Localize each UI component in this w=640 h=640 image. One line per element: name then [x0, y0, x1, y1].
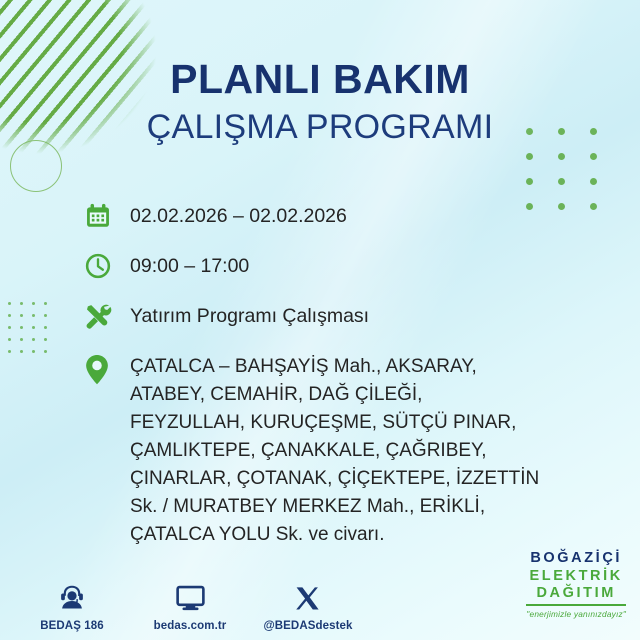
- location-line: ÇATALCA – BAHŞAYİŞ Mah., AKSARAY,: [130, 356, 477, 377]
- poster-footer: BEDAŞ 186 bedas.com.tr: [0, 562, 640, 640]
- monitor-icon: [175, 579, 206, 613]
- x-twitter-icon: [294, 579, 322, 613]
- maintenance-location-text: ÇATALCA – BAHŞAYİŞ Mah., AKSARAY, ATABEY…: [130, 350, 539, 548]
- contact-phone[interactable]: BEDAŞ 186: [26, 579, 118, 632]
- maintenance-time-range: 09:00 – 17:00: [130, 250, 249, 281]
- location-line: ÇAMLIKTEPE, ÇANAKKALE, ÇAĞRIBEY,: [130, 440, 487, 461]
- contact-channels: BEDAŞ 186 bedas.com.tr: [26, 579, 354, 632]
- page-subtitle: ÇALIŞMA PROGRAMI: [0, 107, 640, 148]
- planned-maintenance-poster: PLANLI BAKIM ÇALIŞMA PROGRAMI: [0, 0, 640, 640]
- map-pin-icon: [84, 350, 130, 388]
- call-center-agent-icon: [57, 579, 87, 613]
- dot-grid-left-decoration: [8, 302, 56, 362]
- contact-website-label: bedas.com.tr: [154, 620, 227, 632]
- maintenance-work-type: Yatırım Programı Çalışması: [130, 300, 369, 331]
- detail-row-work-type: Yatırım Programı Çalışması: [84, 300, 600, 336]
- location-line: ÇATALCA YOLU Sk. ve civarı.: [130, 524, 384, 545]
- clock-icon: [84, 250, 130, 286]
- contact-x-label: @BEDASdestek: [263, 620, 352, 632]
- brand-tagline: "enerjimizle yanınızdayız": [526, 610, 626, 618]
- brand-line-dagitim: DAĞITIM: [526, 586, 626, 606]
- location-line: Sk. / MURATBEY MERKEZ Mah., ERİKLİ,: [130, 496, 485, 517]
- tools-icon: [84, 300, 130, 336]
- maintenance-date-range: 02.02.2026 – 02.02.2026: [130, 200, 347, 231]
- poster-header: PLANLI BAKIM ÇALIŞMA PROGRAMI: [0, 58, 640, 148]
- page-title: PLANLI BAKIM: [0, 58, 640, 101]
- location-line: ÇINARLAR, ÇOTANAK, ÇİÇEKTEPE, İZZETTİN: [130, 468, 539, 489]
- location-line: FEYZULLAH, KURUÇEŞME, SÜTÇÜ PINAR,: [130, 412, 516, 433]
- contact-website[interactable]: bedas.com.tr: [144, 579, 236, 632]
- calendar-icon: [84, 200, 130, 236]
- bedas-logo: BOĞAZİÇİ ELEKTRİK DAĞITIM "enerjimizle y…: [526, 551, 626, 618]
- contact-x-twitter[interactable]: @BEDASdestek: [262, 579, 354, 632]
- brand-line-bogazici: BOĞAZİÇİ: [526, 551, 626, 566]
- contact-phone-label: BEDAŞ 186: [40, 620, 104, 632]
- detail-row-date: 02.02.2026 – 02.02.2026: [84, 200, 600, 236]
- location-line: ATABEY, CEMAHİR, DAĞ ÇİLEĞİ,: [130, 384, 422, 405]
- maintenance-details-list: 02.02.2026 – 02.02.2026 09:00 – 17:00: [84, 200, 600, 562]
- detail-row-location: ÇATALCA – BAHŞAYİŞ Mah., AKSARAY, ATABEY…: [84, 350, 600, 548]
- detail-row-time: 09:00 – 17:00: [84, 250, 600, 286]
- brand-line-elektrik: ELEKTRİK: [526, 569, 626, 584]
